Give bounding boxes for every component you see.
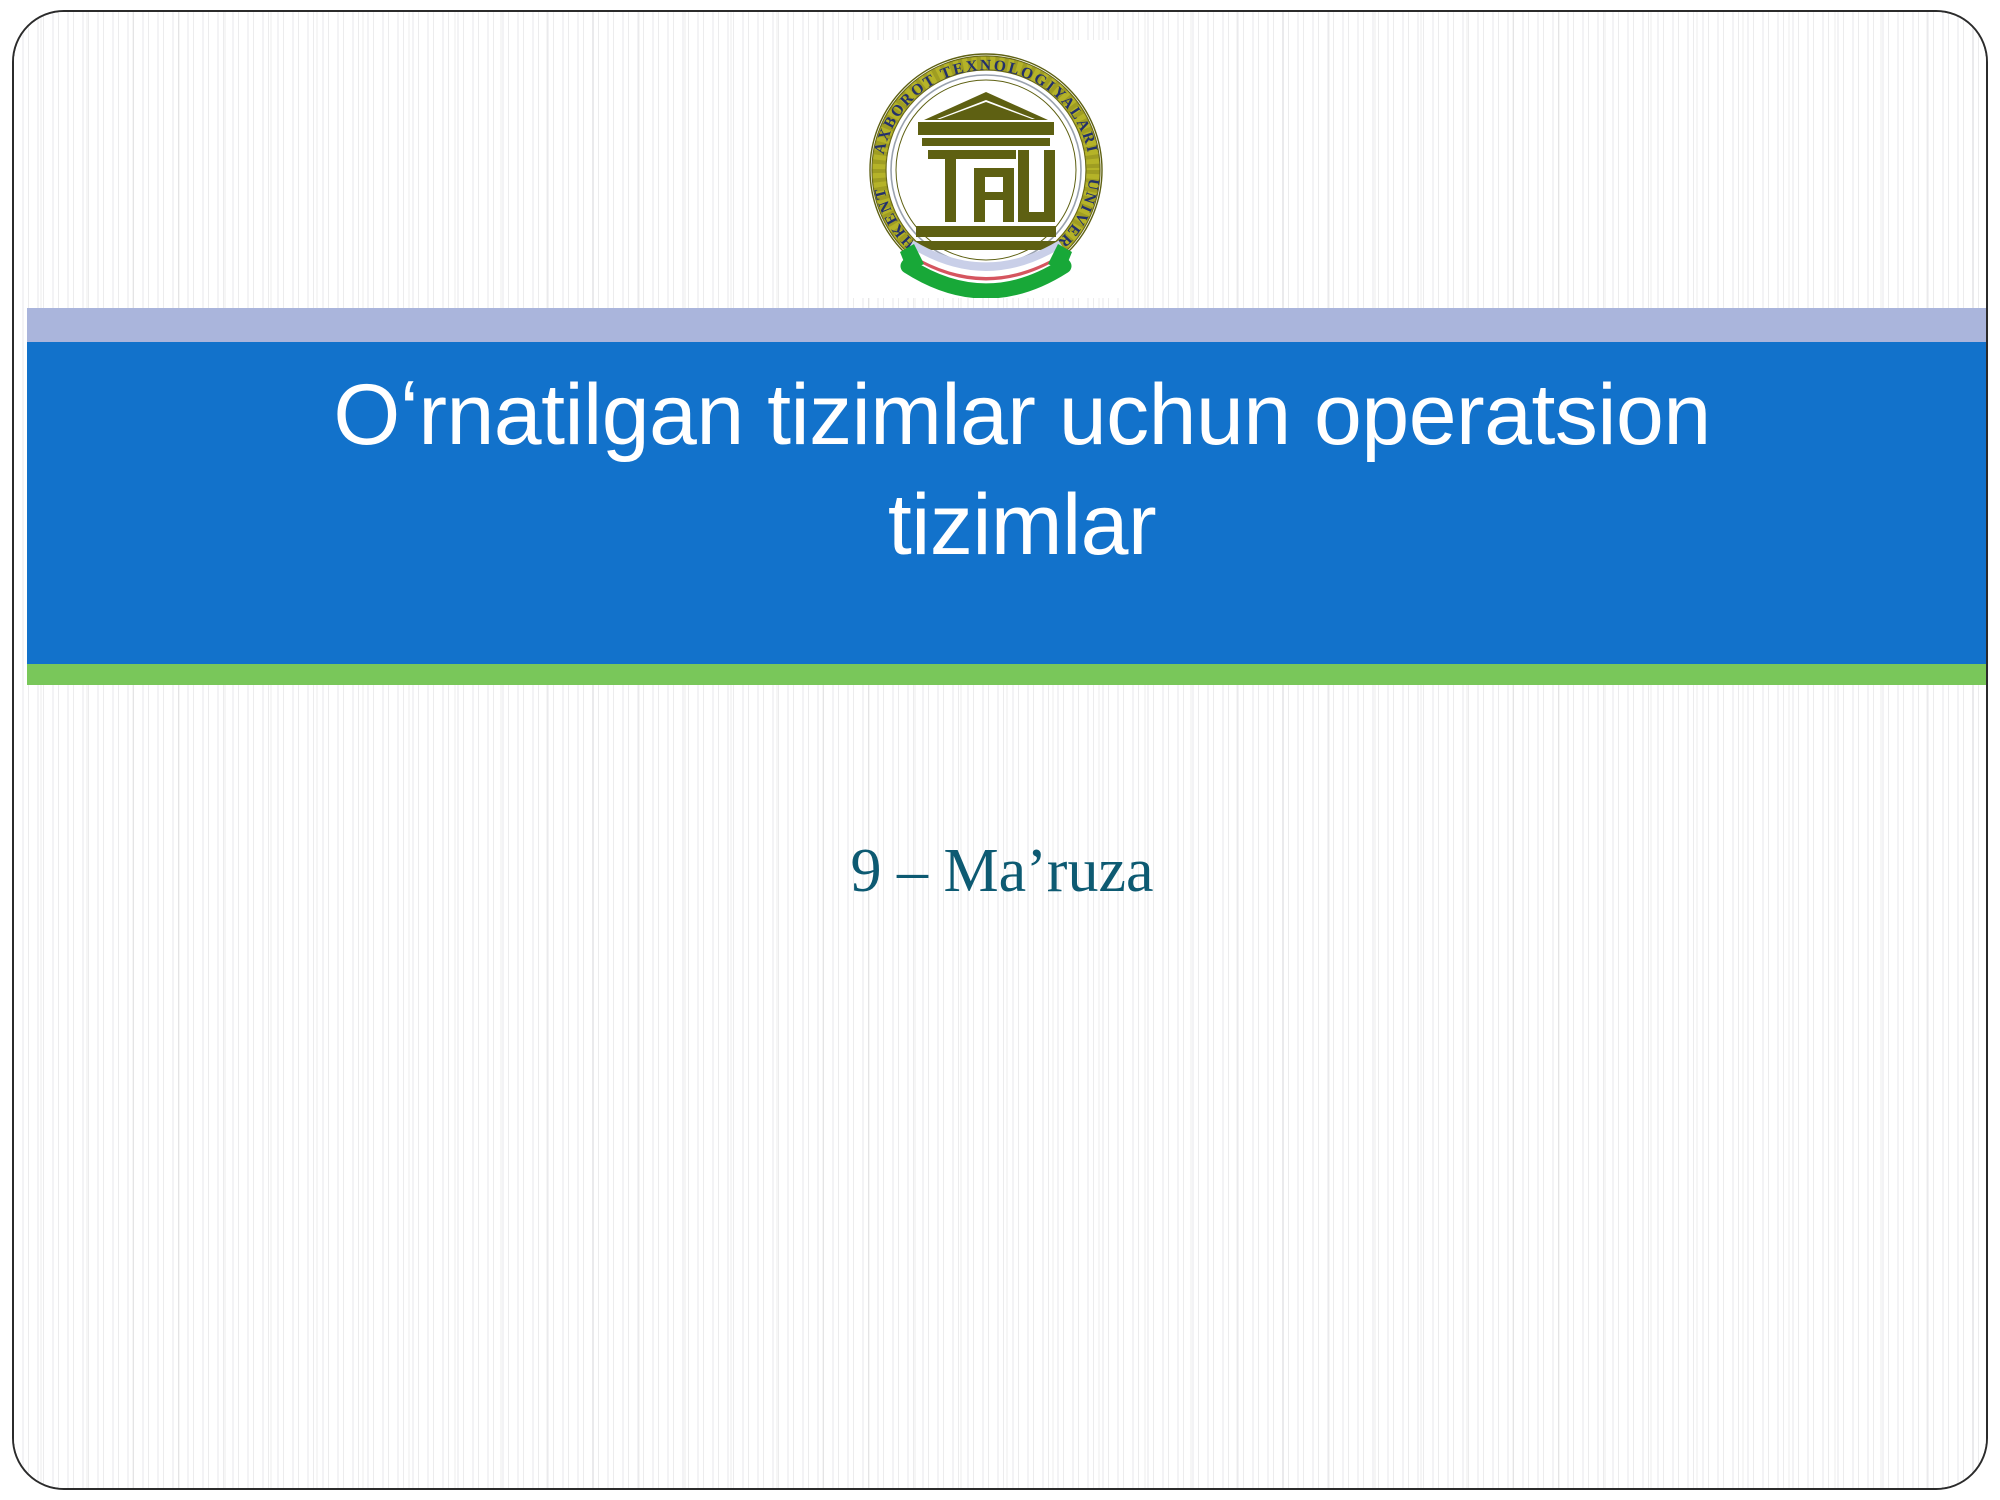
slide-title: Oʻrnatilgan tizimlar uchun operatsion ti… bbox=[127, 360, 1917, 580]
slide-subtitle: 9 – Ma’ruza bbox=[14, 837, 1988, 905]
accent-band-lavender bbox=[27, 308, 1988, 342]
slide-canvas: AXBOROT TEXNOLOGIYALARI UNIVERSITETI TOS… bbox=[12, 10, 1988, 1490]
accent-stripe-green bbox=[27, 664, 1988, 685]
presentation-slide: AXBOROT TEXNOLOGIYALARI UNIVERSITETI TOS… bbox=[0, 0, 2000, 1500]
title-bar: Oʻrnatilgan tizimlar uchun operatsion ti… bbox=[27, 342, 1988, 664]
tatu-university-logo: AXBOROT TEXNOLOGIYALARI UNIVERSITETI TOS… bbox=[852, 40, 1120, 298]
